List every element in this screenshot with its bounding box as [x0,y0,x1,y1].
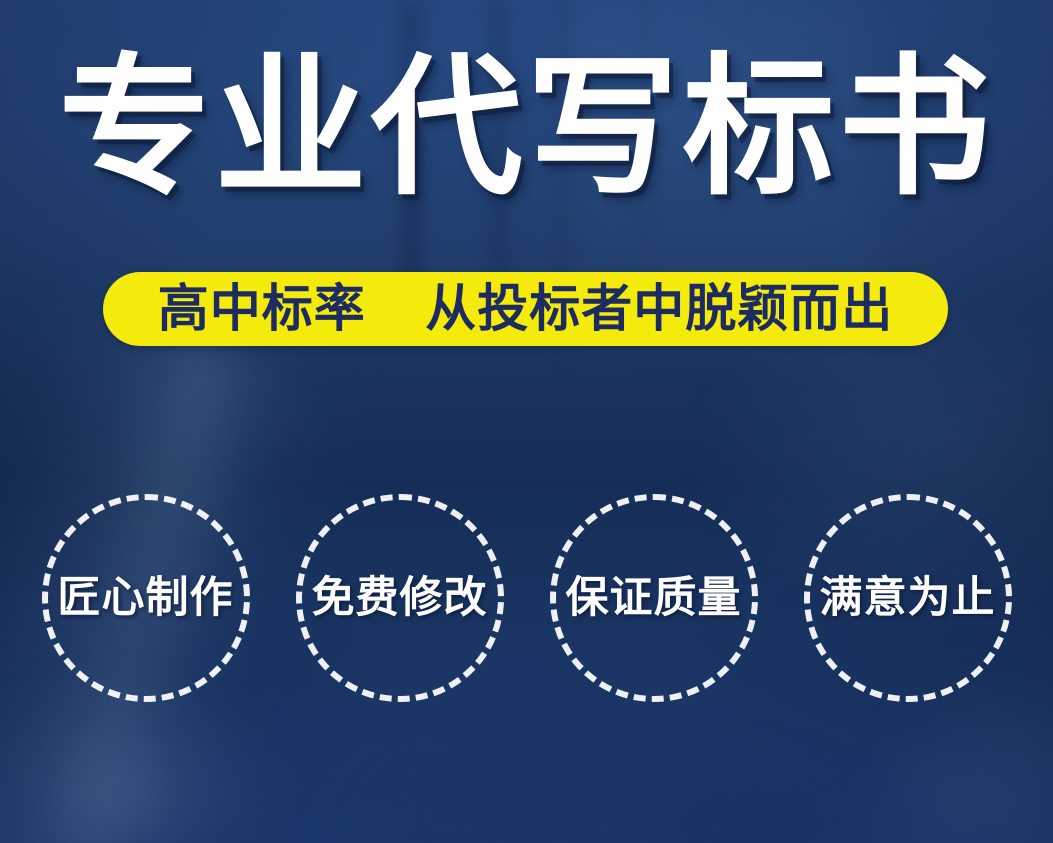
subtitle-pill: 高中标率 从投标者中脱颖而出 [103,272,948,346]
promo-poster: 专业代写标书 高中标率 从投标者中脱颖而出 匠心制作 免费修改 保证质量 [0,0,1053,843]
feature-label: 保证质量 [566,577,742,620]
subtitle-part-1: 高中标率 [158,280,366,339]
subtitle-text-group: 高中标率 从投标者中脱颖而出 [158,284,894,335]
feature-label: 免费修改 [312,577,488,620]
feature-circle-1: 匠心制作 [42,494,250,702]
feature-label: 满意为止 [820,577,996,620]
poster-content: 专业代写标书 高中标率 从投标者中脱颖而出 匠心制作 免费修改 保证质量 [0,0,1053,843]
feature-circle-3: 保证质量 [550,494,758,702]
feature-circle-row: 匠心制作 免费修改 保证质量 满意为止 [0,492,1053,704]
headline-title: 专业代写标书 [0,52,1053,204]
feature-circle-2: 免费修改 [296,494,504,702]
subtitle-part-2: 从投标者中脱颖而出 [425,280,893,339]
feature-label: 匠心制作 [58,577,234,620]
feature-circle-4: 满意为止 [804,494,1012,702]
